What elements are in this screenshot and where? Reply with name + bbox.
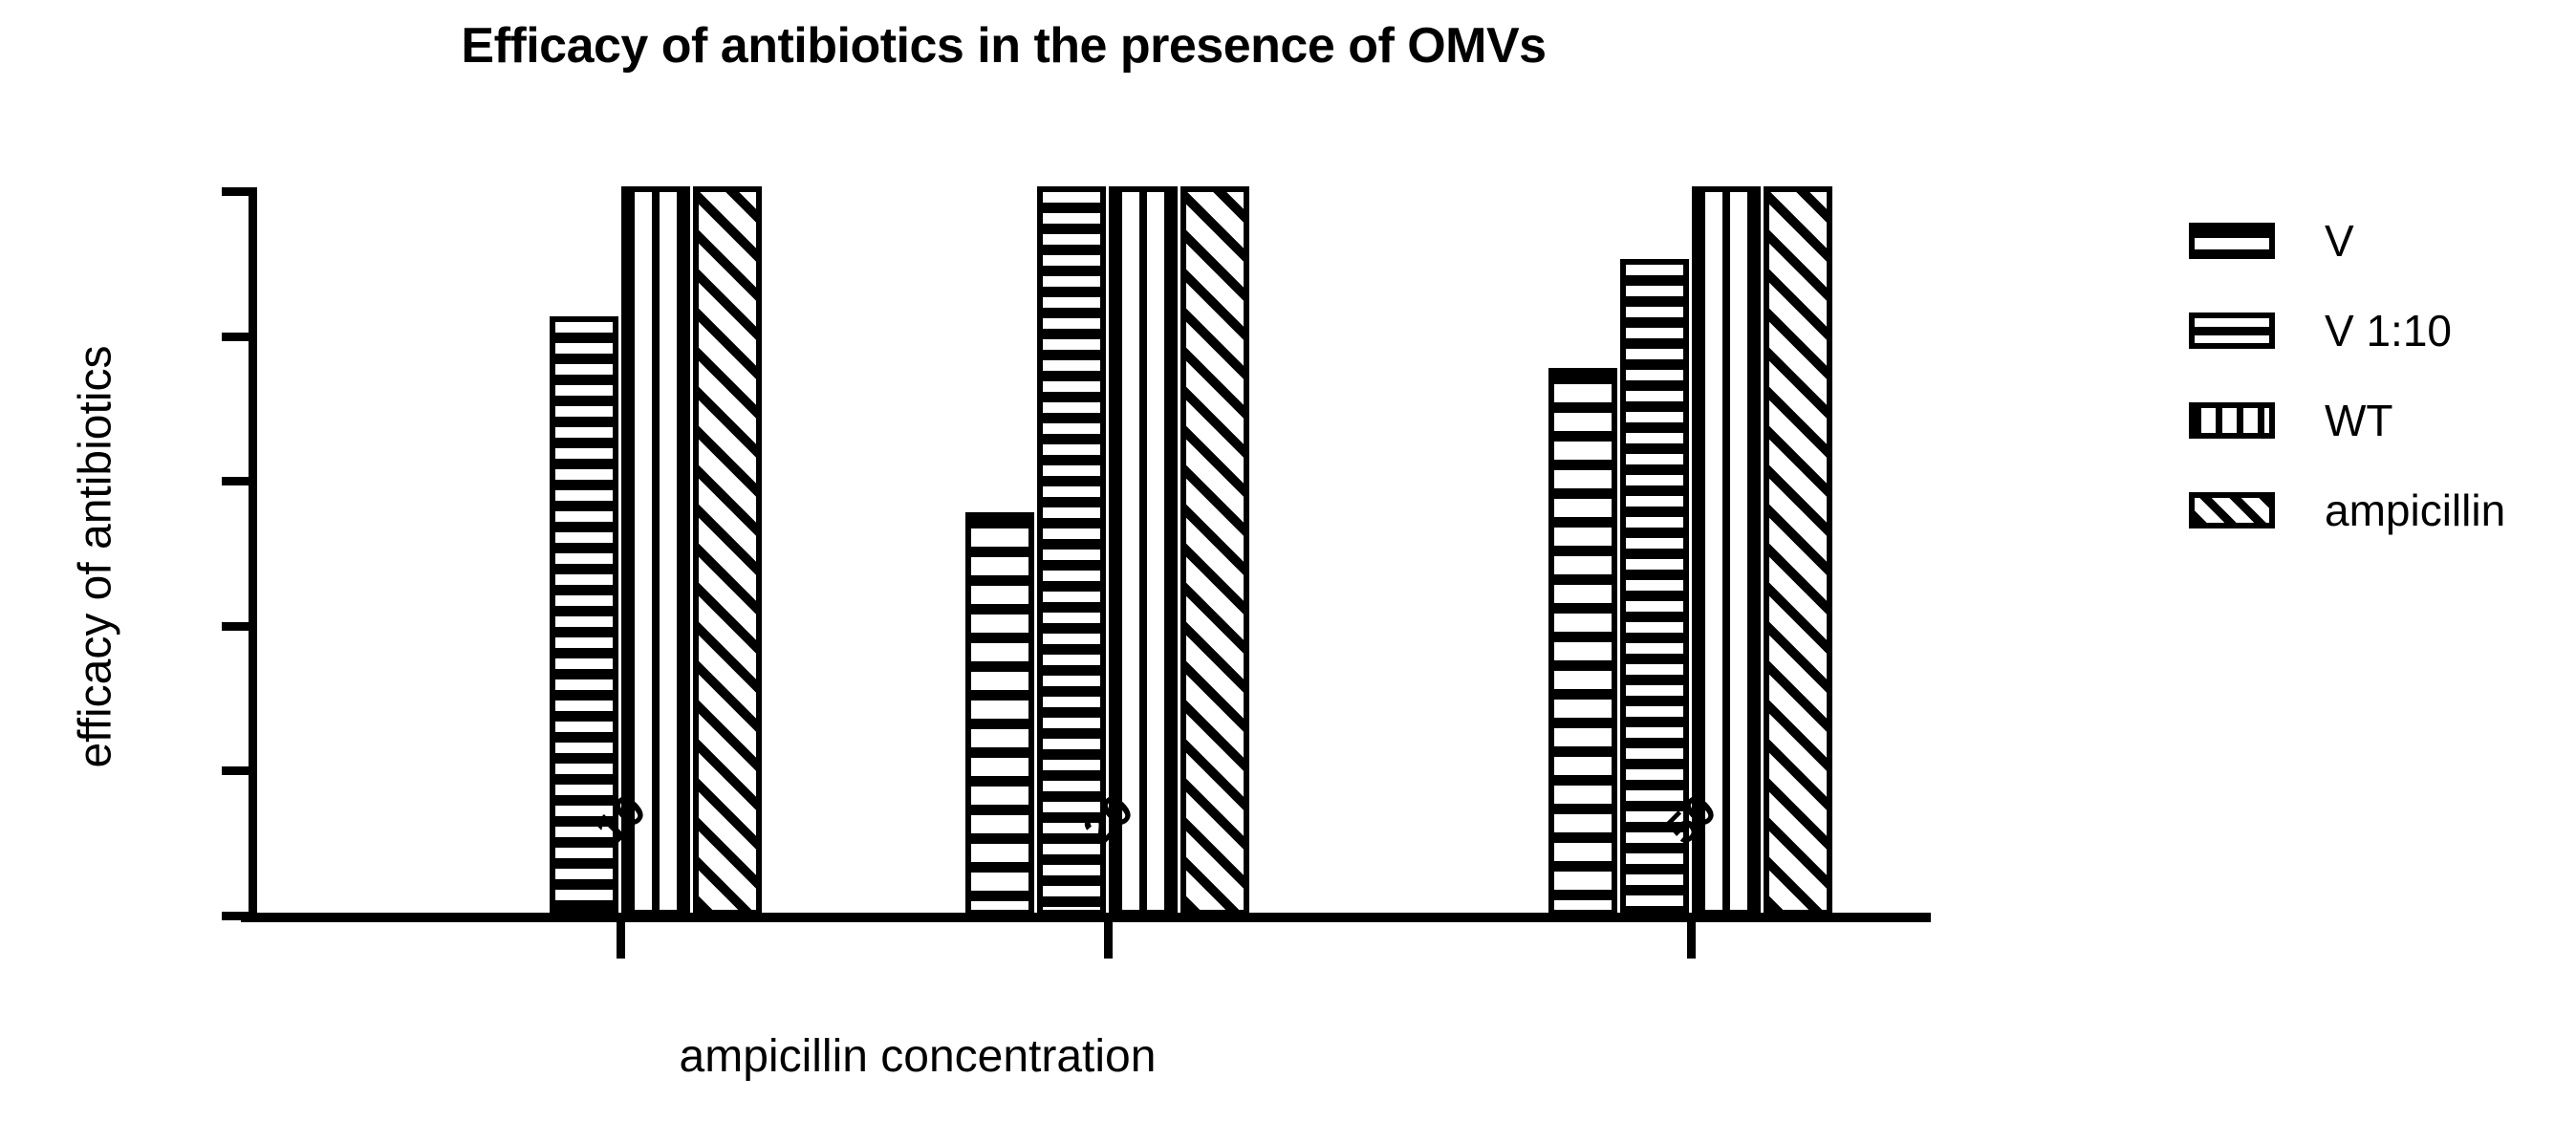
legend-item-label: ampicillin xyxy=(2325,485,2505,536)
vertical-lines-swatch xyxy=(2189,402,2275,439)
bar-chart-figure: Efficacy of antibiotics in the presence … xyxy=(0,0,2576,1121)
x-axis-title: ampicillin concentration xyxy=(249,1030,1587,1083)
x-axis-tick xyxy=(617,920,625,959)
y-axis-tick xyxy=(222,622,250,631)
y-axis-tick xyxy=(222,187,250,196)
bar-v-20 xyxy=(965,512,1034,916)
y-axis-tick xyxy=(222,912,250,920)
bar-ampicillin-20 xyxy=(1180,186,1249,916)
legend-item-wt[interactable]: WT xyxy=(2189,376,2571,465)
horizontal-lines-swatch xyxy=(2189,223,2275,259)
y-axis-title: efficacy of antibiotics xyxy=(70,175,122,939)
y-axis-tick xyxy=(222,333,250,341)
y-axis-tick xyxy=(222,766,250,775)
legend-item-v-1-10[interactable]: V 1:10 xyxy=(2189,286,2571,376)
bar-v-50 xyxy=(1548,368,1617,916)
legend-item-v[interactable]: V xyxy=(2189,196,2571,286)
legend-item-ampicillin[interactable]: ampicillin xyxy=(2189,465,2571,555)
bar-ampicillin-50 xyxy=(1764,186,1832,916)
y-axis-line xyxy=(249,187,257,919)
chart-title: Efficacy of antibiotics in the presence … xyxy=(0,17,2007,75)
legend-item-label: WT xyxy=(2325,395,2393,446)
y-axis-tick xyxy=(222,477,250,485)
diagonal-hatch-swatch xyxy=(2189,492,2275,528)
x-axis-tick xyxy=(1104,920,1113,959)
x-axis-tick xyxy=(1687,920,1696,959)
legend-item-label: V 1:10 xyxy=(2325,305,2452,356)
legend-item-label: V xyxy=(2325,215,2354,267)
chart-legend: VV 1:10WTampicillin xyxy=(2189,196,2571,555)
checkered-swatch xyxy=(2189,313,2275,349)
bar-ampicillin-10 xyxy=(693,186,762,916)
